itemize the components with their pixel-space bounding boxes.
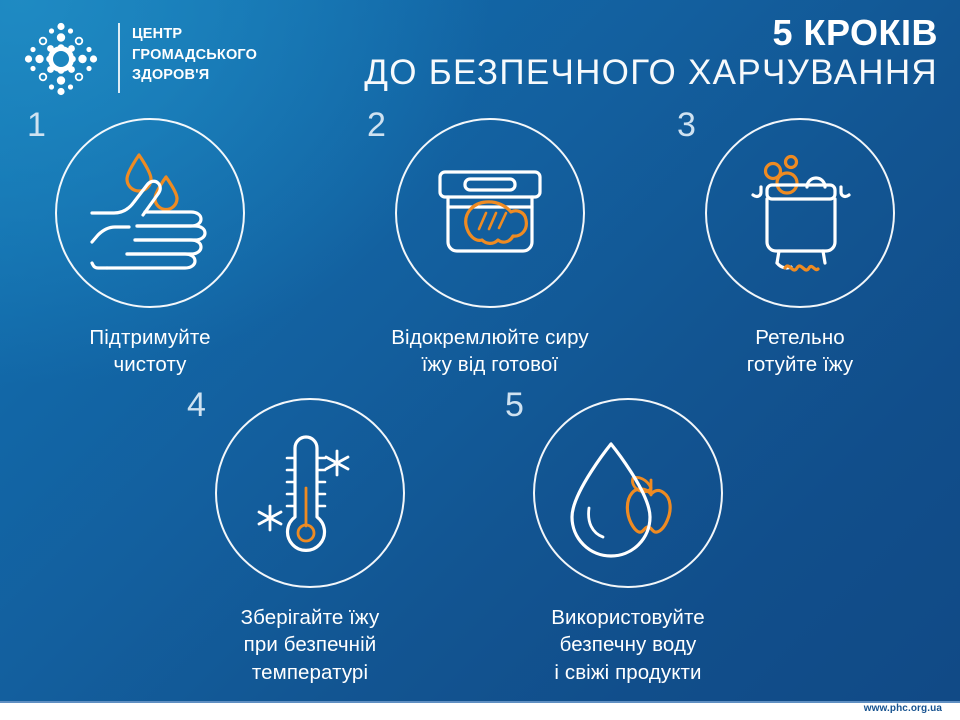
brand-name: ЦЕНТР ГРОМАДСЬКОГО ЗДОРОВ'Я [132, 24, 257, 86]
step-5-number: 5 [505, 388, 524, 422]
step-3-circle-box: 3 [705, 118, 895, 308]
step-1: 1 [30, 118, 270, 379]
footer-website-url[interactable]: www.phc.org.ua [864, 703, 942, 714]
step-4-caption-line-2: при безпечній [190, 631, 430, 658]
step-5-circle-box: 5 [533, 398, 723, 588]
step-5-caption-line-2: безпечну воду [508, 631, 748, 658]
dot-diamond-logo-icon [20, 18, 102, 100]
hand-washing-icon [67, 130, 233, 296]
step-2-caption-line-1: Відокремлюйте сиру [370, 324, 610, 351]
step-4-number: 4 [187, 388, 206, 422]
thermometer-snowflakes-icon [227, 410, 393, 576]
step-4-caption: Зберігайте їжу при безпечній температурі [190, 604, 430, 686]
step-5-caption: Використовуйте безпечну воду і свіжі про… [508, 604, 748, 686]
brand-logo: ЦЕНТР ГРОМАДСЬКОГО ЗДОРОВ'Я [20, 16, 320, 102]
step-4-circle-box: 4 [215, 398, 405, 588]
step-5-caption-line-3: і свіжі продукти [508, 659, 748, 686]
logo-divider [118, 23, 120, 93]
brand-name-line-2: ГРОМАДСЬКОГО [132, 45, 257, 66]
step-1-caption-line-1: Підтримуйте [30, 324, 270, 351]
step-3-number: 3 [677, 108, 696, 142]
step-2-caption: Відокремлюйте сиру їжу від готової [370, 324, 610, 379]
step-5-caption-line-1: Використовуйте [508, 604, 748, 631]
step-4-caption-line-1: Зберігайте їжу [190, 604, 430, 631]
step-2: 2 [370, 118, 610, 379]
poster-title: 5 КРОКІВ ДО БЕЗПЕЧНОГО ХАРЧУВАННЯ [364, 14, 938, 93]
food-container-raw-meat-icon [407, 130, 573, 296]
step-3: 3 [680, 118, 920, 379]
title-main: 5 КРОКІВ [364, 14, 938, 51]
water-drop-apple-icon [545, 410, 711, 576]
step-1-number: 1 [27, 108, 46, 142]
step-1-caption: Підтримуйте чистоту [30, 324, 270, 379]
step-4-caption-line-3: температурі [190, 659, 430, 686]
step-5: 5 Використовуйте безпечну воду [508, 398, 748, 686]
brand-name-line-1: ЦЕНТР [132, 24, 257, 45]
step-2-number: 2 [367, 108, 386, 142]
cooking-pot-icon [717, 130, 883, 296]
step-4: 4 [190, 398, 430, 686]
step-3-caption-line-1: Ретельно [694, 324, 906, 351]
step-1-caption-line-2: чистоту [30, 351, 270, 378]
step-2-circle-box: 2 [395, 118, 585, 308]
footer: www.phc.org.ua [0, 703, 960, 720]
step-1-circle-box: 1 [55, 118, 245, 308]
infographic-poster: ЦЕНТР ГРОМАДСЬКОГО ЗДОРОВ'Я 5 КРОКІВ ДО … [0, 0, 960, 720]
step-3-caption-line-2: готуйте їжу [694, 351, 906, 378]
brand-name-line-3: ЗДОРОВ'Я [132, 65, 257, 86]
step-3-caption: Ретельно готуйте їжу [680, 324, 920, 379]
step-2-caption-line-2: їжу від готової [370, 351, 610, 378]
title-subtitle: ДО БЕЗПЕЧНОГО ХАРЧУВАННЯ [364, 53, 938, 92]
